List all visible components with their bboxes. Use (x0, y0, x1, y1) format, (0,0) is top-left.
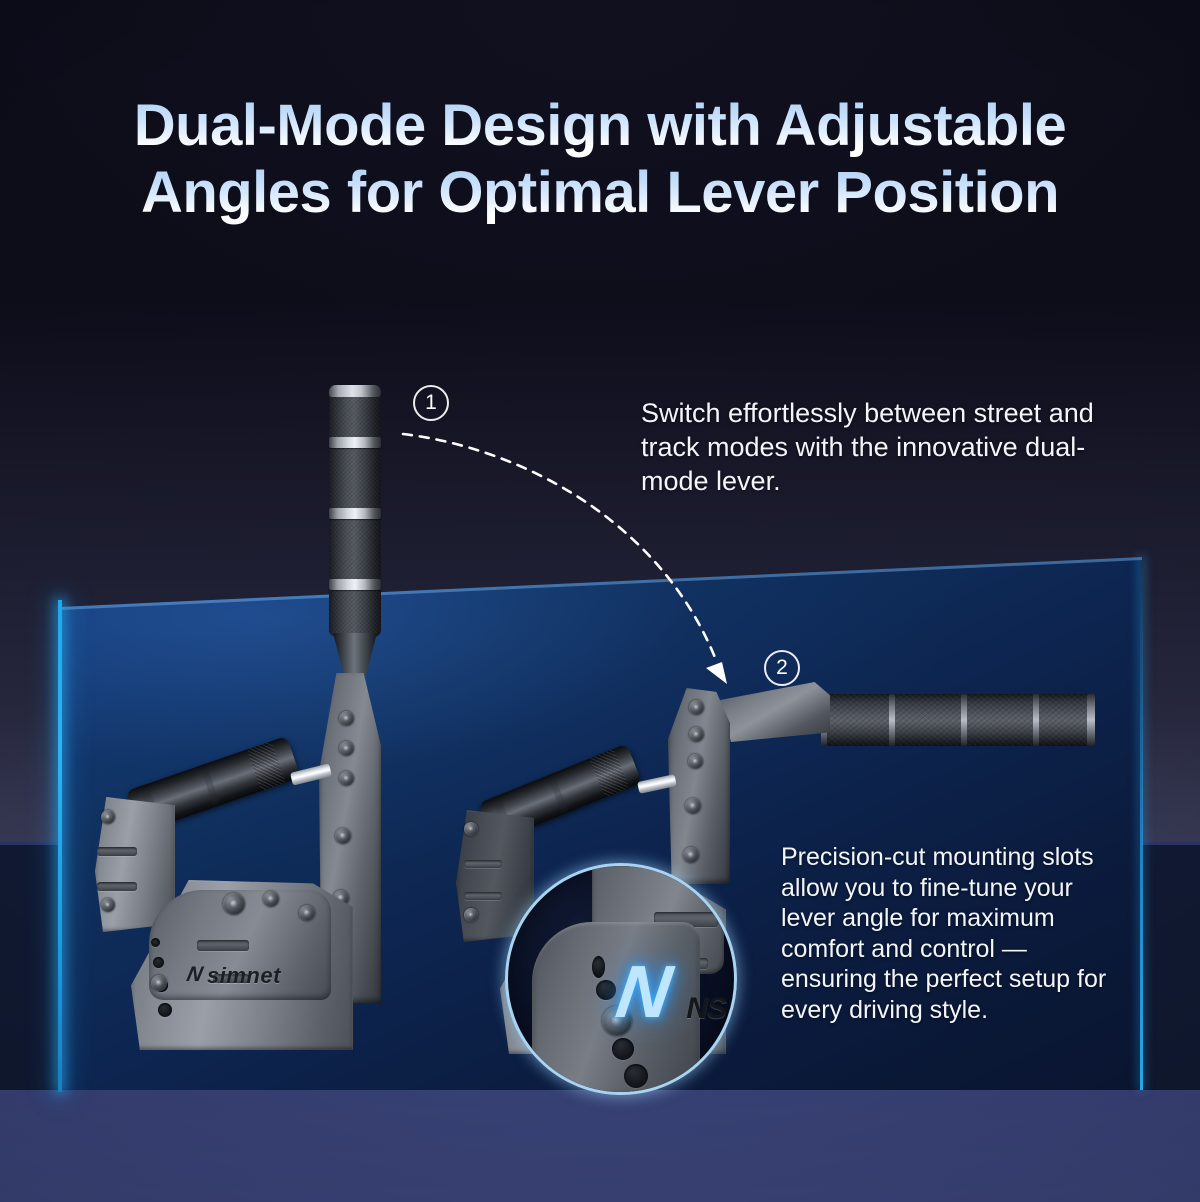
adjust-hole (151, 938, 160, 947)
cylinder-band (200, 764, 221, 808)
bracket-bolt (101, 810, 115, 824)
arm-bolt (339, 771, 354, 786)
panel-left-edge-glow (58, 600, 62, 1092)
base-bolt (299, 905, 315, 921)
magnified-brand-text: NS (686, 992, 726, 1026)
panel-right-edge-glow (1140, 556, 1143, 1090)
lever-neck (720, 682, 830, 742)
page-title: Dual-Mode Design with Adjustable Angles … (0, 92, 1200, 227)
bracket-bolt (101, 898, 115, 912)
adjust-hole (153, 957, 164, 968)
magnifier-detail-circle: N NS (505, 863, 737, 1095)
cylinder-band (547, 773, 569, 815)
base-pivot-bolt (223, 893, 245, 915)
magnified-hole (592, 956, 605, 978)
bracket-slot (97, 847, 137, 856)
magnified-hole (624, 1064, 648, 1088)
grip-band (329, 579, 381, 590)
mounting-plate-vertical (668, 688, 730, 884)
cylinder-knurl (247, 741, 286, 791)
bracket-slot (97, 882, 137, 891)
glow-n-logo-icon: N (603, 954, 686, 1030)
callout-badge-2[interactable]: 2 (764, 650, 800, 686)
lever-grip-vertical (329, 385, 381, 637)
brand-logo-text: simnet (207, 963, 281, 989)
arm-bolt (335, 828, 351, 844)
lever-taper (333, 633, 377, 677)
callout-text-1: Switch effortlessly between street and t… (641, 396, 1147, 498)
mount-bolt (689, 700, 704, 715)
bracket-bolt (464, 908, 478, 922)
shifter-unit-vertical: N simnet (95, 385, 395, 1050)
base-bolt (263, 891, 279, 907)
grip-texture (821, 694, 1095, 746)
arm-bolt (339, 741, 354, 756)
mount-bolt (685, 798, 701, 814)
infographic-stage: Dual-Mode Design with Adjustable Angles … (0, 0, 1200, 1202)
cylinder-knurl (589, 749, 629, 798)
grip-end-cap (1087, 694, 1095, 746)
grip-band (329, 437, 381, 448)
mount-bolt (683, 847, 699, 863)
mount-bolt (688, 754, 703, 769)
callout-badge-1[interactable]: 1 (413, 385, 449, 421)
page-title-line-1: Dual-Mode Design with Adjustable (0, 92, 1200, 159)
callout-text-2: Precision-cut mounting slots allow you t… (781, 842, 1121, 1025)
mount-bolt (689, 727, 704, 742)
adjust-bolt (151, 975, 167, 991)
grip-cap (329, 385, 381, 397)
page-title-line-2: Angles for Optimal Lever Position (0, 159, 1200, 226)
grip-band (889, 694, 895, 746)
adjust-hole (158, 1003, 172, 1017)
grip-band (329, 508, 381, 519)
lever-grip-horizontal (821, 694, 1095, 746)
magnified-hole (612, 1038, 634, 1060)
magnifier-content: N NS (508, 866, 734, 1092)
bracket-slot (464, 892, 502, 900)
grip-band (1033, 694, 1039, 746)
bracket-bolt (464, 822, 478, 836)
grip-band (961, 694, 967, 746)
arm-bolt (339, 711, 354, 726)
base-slot (197, 940, 249, 951)
bracket-slot (464, 860, 502, 868)
